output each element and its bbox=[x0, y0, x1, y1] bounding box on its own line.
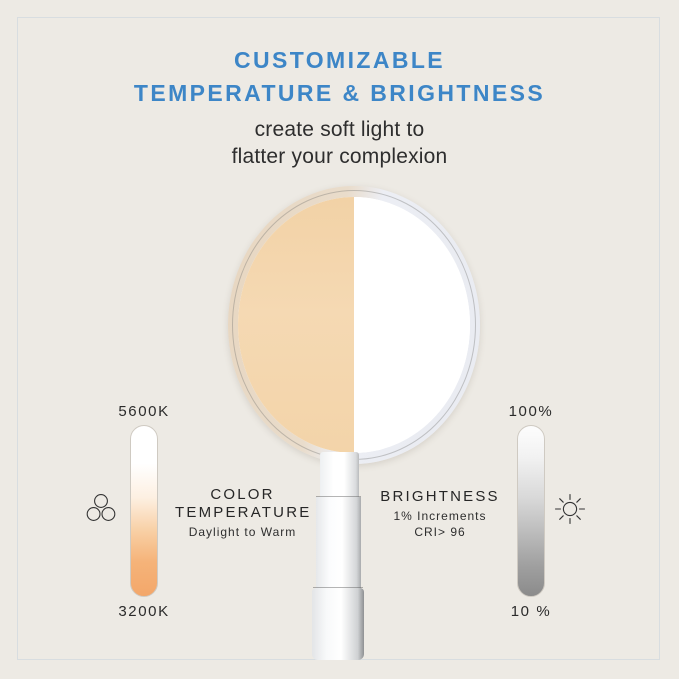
lamp-stand-seam-lower bbox=[313, 587, 363, 588]
brightness-max-label: 100% bbox=[481, 403, 581, 420]
headline-line-2: TEMPERATURE & BRIGHTNESS bbox=[0, 77, 679, 110]
brightness-caption: BRIGHTNESS 1% Increments CRI> 96 bbox=[375, 488, 505, 540]
lamp-stand-neck bbox=[320, 452, 359, 498]
subtitle-line-2: flatter your complexion bbox=[0, 143, 679, 170]
lamp-stand-seam-upper bbox=[316, 496, 361, 497]
brightness-caption-title: BRIGHTNESS bbox=[375, 488, 505, 506]
subtitle: create soft light to flatter your comple… bbox=[0, 116, 679, 170]
lamp-face-cool-half bbox=[354, 197, 470, 453]
brightness-caption-subtitle-1: 1% Increments bbox=[375, 508, 505, 524]
subtitle-line-1: create soft light to bbox=[0, 116, 679, 143]
ring-light-head bbox=[228, 186, 480, 464]
infographic-canvas: CUSTOMIZABLE TEMPERATURE & BRIGHTNESS cr… bbox=[0, 0, 679, 679]
temperature-caption-subtitle: Daylight to Warm bbox=[175, 524, 310, 540]
temperature-slider-track[interactable] bbox=[130, 425, 158, 597]
three-circles-icon bbox=[82, 490, 120, 528]
lamp-stand-base bbox=[312, 588, 364, 660]
temperature-min-label: 3200K bbox=[94, 603, 194, 620]
lamp-face-warm-half bbox=[238, 197, 354, 453]
sun-icon bbox=[551, 490, 589, 528]
page-title: CUSTOMIZABLE TEMPERATURE & BRIGHTNESS bbox=[0, 44, 679, 110]
temperature-caption-line-2: TEMPERATURE bbox=[175, 504, 310, 522]
temperature-max-label: 5600K bbox=[94, 403, 194, 420]
headline-line-1: CUSTOMIZABLE bbox=[0, 44, 679, 77]
temperature-caption: COLOR TEMPERATURE Daylight to Warm bbox=[175, 486, 310, 540]
brightness-caption-subtitle-2: CRI> 96 bbox=[375, 524, 505, 540]
lamp-face bbox=[238, 197, 470, 453]
lamp-stand-column bbox=[316, 497, 361, 590]
temperature-caption-line-1: COLOR bbox=[175, 486, 310, 504]
brightness-slider-track[interactable] bbox=[517, 425, 545, 597]
brightness-min-label: 10 % bbox=[481, 603, 581, 620]
